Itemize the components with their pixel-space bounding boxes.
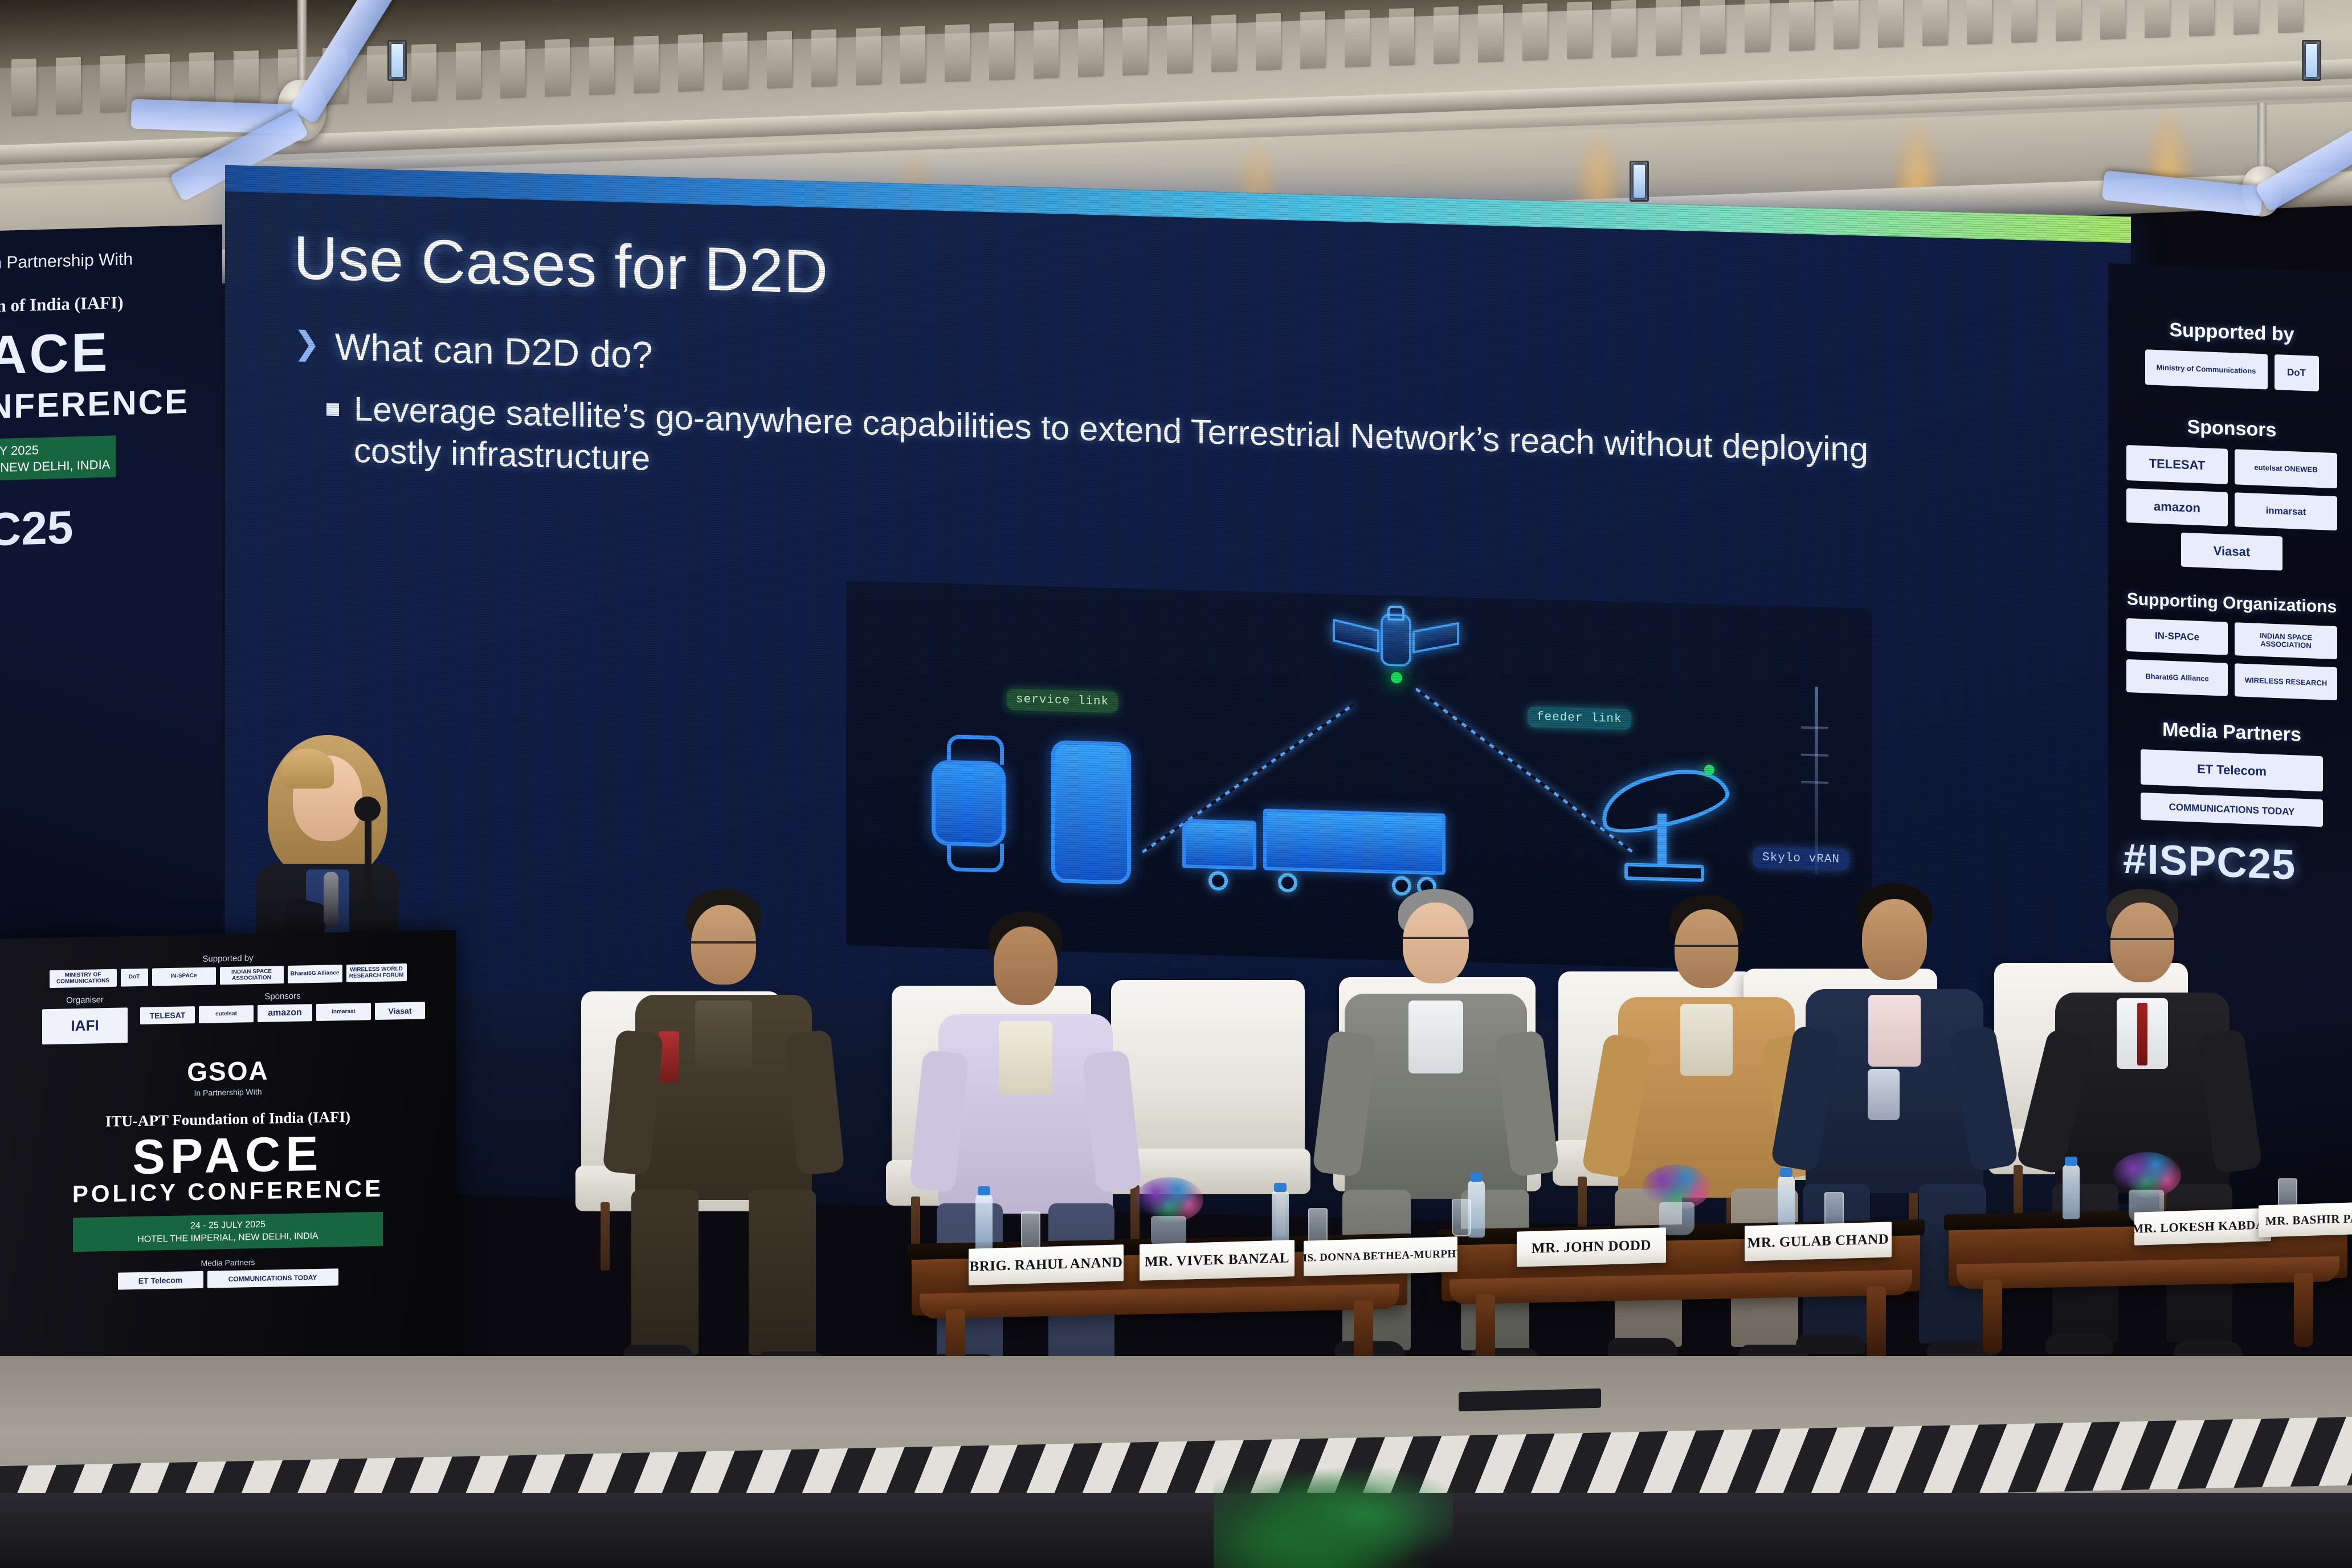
media-partners-heading: Media Partners — [2123, 717, 2341, 748]
sponsor-logos-row-3: Viasat — [2123, 530, 2341, 573]
podium-sponsors-heading: Sponsors — [140, 989, 425, 1004]
feeder-link-label: feeder link — [1528, 707, 1631, 730]
eyeglasses-icon — [690, 941, 757, 949]
panelist-5 — [1778, 883, 2011, 1385]
viasat-logo: Viasat — [2181, 533, 2282, 571]
ceiling-fan-right — [2177, 103, 2347, 251]
smartwatch-icon — [932, 759, 1006, 847]
name-placard: MR. BASHIR PATEL — [2259, 1201, 2352, 1237]
podium-inmarsat-logo: inmarsat — [316, 1003, 371, 1021]
panelist-6 — [2028, 889, 2256, 1385]
name-placard: MR. VIVEK BANZAL — [1140, 1240, 1295, 1281]
media-logos: ET Telecom — [2123, 749, 2341, 793]
stage-front-face — [0, 1493, 2352, 1568]
slide-title: Use Cases for D2D — [293, 222, 2063, 341]
left-banner-venue: , NEW DELHI, INDIA — [0, 456, 110, 476]
eyeglasses-icon — [1673, 945, 1740, 953]
potted-plant — [1214, 1447, 1453, 1568]
name-placard: MR. JOHN DODD — [1517, 1227, 1666, 1267]
eyeglasses-icon — [1401, 937, 1471, 945]
left-banner-title-2: NFERENCE — [0, 381, 212, 426]
podium-bharat6g-logo: Bharat6G Alliance — [288, 965, 342, 983]
supported-by-heading: Supported by — [2123, 317, 2341, 348]
communications-today-logo: COMMUNICATIONS TODAY — [2141, 793, 2323, 827]
wireless-research-logo: WIRELESS RESEARCH — [2235, 663, 2337, 700]
ceiling-vent-light — [1630, 161, 1649, 202]
ceiling-fan-left — [217, 0, 387, 171]
smartphone-icon — [1051, 740, 1131, 885]
water-bottle — [1272, 1191, 1289, 1248]
chevron-right-icon: ❯ — [293, 327, 320, 360]
ceiling-vent-light — [387, 40, 407, 81]
supported-by-logos: Ministry of Communications DoT — [2123, 349, 2341, 393]
service-link-label: service link — [1007, 689, 1118, 713]
podium-iafi-logo: IAFI — [42, 1007, 128, 1044]
truck-icon — [1182, 806, 1450, 893]
name-placard: BRIG. RAHUL ANAND — [969, 1244, 1124, 1285]
sponsor-logos-row-2: amazon inmarsat — [2123, 488, 2341, 531]
name-placard: MS. DONNA BETHEA-MURPHY — [1304, 1236, 1457, 1276]
left-banner-hashtag: C25 — [0, 497, 212, 557]
handheld-microphone-icon — [324, 872, 338, 926]
podium-eutelsat-logo: eutelsat — [199, 1005, 254, 1023]
podium-isa-logo: INDIAN SPACE ASSOCIATION — [220, 966, 284, 985]
ministry-of-communications-logo: Ministry of Communications — [2145, 349, 2268, 389]
left-banner-title-1: ACE — [0, 318, 212, 387]
slide-bullet-level2-text: Leverage satellite’s go-anywhere capabil… — [354, 388, 1926, 514]
podium-telesat-logo: TELESAT — [140, 1006, 195, 1024]
left-banner-foundation: on of India (IAFI) — [0, 289, 212, 316]
drinking-glass — [1452, 1199, 1471, 1236]
podium-policy-conference-title: POLICY CONFERENCE — [39, 1175, 417, 1207]
inmarsat-logo: inmarsat — [2235, 492, 2337, 530]
eutelsat-oneweb-logo: eutelsat ONEWEB — [2235, 449, 2337, 488]
podium-et-telecom-logo: ET Telecom — [118, 1271, 203, 1290]
gsoa-logo: GSOA — [39, 1052, 417, 1091]
eyeglasses-icon — [2109, 938, 2176, 946]
podium-viasat-logo: Viasat — [375, 1002, 425, 1020]
indian-space-association-logo: INDIAN SPACE ASSOCIATION — [2235, 622, 2337, 659]
square-bullet-icon — [326, 403, 339, 416]
podium-communications-today-logo: COMMUNICATIONS TODAY — [207, 1269, 338, 1288]
telesat-logo: TELESAT — [2126, 445, 2228, 484]
podium-amazon-logo: amazon — [258, 1004, 312, 1022]
et-telecom-logo: ET Telecom — [2141, 749, 2323, 791]
supporting-organizations-heading: Supporting Organizations — [2123, 590, 2341, 618]
floor-cable-cover — [1459, 1389, 1601, 1412]
necktie — [2137, 1003, 2147, 1065]
skylo-vran-label: Skylo vRAN — [1753, 847, 1849, 871]
name-placard: MR. GULAB CHAND — [1745, 1222, 1892, 1261]
podium-inspace-logo: IN-SPACe — [152, 967, 216, 986]
podium-ministry-logo: MINISTRY OF COMMUNICATIONS — [50, 969, 117, 988]
podium-organiser-heading: Organiser — [42, 994, 128, 1006]
panelist-3 — [1316, 889, 1555, 1390]
podium-supported-by-logos: MINISTRY OF COMMUNICATIONS DoT IN-SPACe … — [39, 963, 417, 989]
satellite-icon — [1336, 605, 1456, 682]
satellite-dish-icon — [1598, 772, 1746, 901]
dot-logo: DoT — [2275, 354, 2319, 391]
mobile-phone-held-icon — [1868, 1069, 1900, 1120]
supporting-logos-row-2: Bharat6G Alliance WIRELESS RESEARCH — [2123, 659, 2341, 701]
event-hashtag-right: #ISPC25 — [2123, 834, 2341, 891]
drinking-glass — [1021, 1211, 1040, 1250]
supporting-logos-row-1: IN-SPACe INDIAN SPACE ASSOCIATION — [2123, 618, 2341, 660]
podium-microphone-head-icon — [354, 797, 381, 822]
name-placard: MR. LOKESH KABDAL — [2134, 1208, 2271, 1246]
event-banner-left: In Partnership With on of India (IAFI) A… — [0, 224, 222, 989]
panelist-1 — [604, 889, 843, 1402]
water-bottle — [2063, 1165, 2080, 1219]
podium-wwrf-logo: WIRELESS WORLD RESEARCH FORUM — [346, 963, 407, 982]
in-space-logo: IN-SPACe — [2126, 618, 2228, 655]
podium-dot-logo: DoT — [121, 969, 148, 987]
conference-photo: Use Cases for D2D ❯ What can D2D do? Lev… — [0, 0, 2352, 1568]
sponsor-logos-row-1: TELESAT eutelsat ONEWEB — [2123, 445, 2341, 489]
ceiling-vent-light — [2302, 40, 2321, 81]
bharat6g-alliance-logo: Bharat6G Alliance — [2126, 659, 2228, 696]
water-bottle — [1778, 1176, 1795, 1231]
amazon-logo: amazon — [2126, 488, 2228, 526]
water-bottle — [975, 1194, 993, 1251]
panel-chair — [1111, 980, 1305, 1168]
sponsors-heading: Sponsors — [2123, 414, 2341, 444]
podium-microphone-stand — [365, 809, 371, 929]
uniform-ribbon — [659, 1031, 679, 1083]
left-banner-partnership: In Partnership With — [0, 247, 212, 273]
slide-bullet-level1-text: What can D2D do? — [335, 325, 653, 377]
podium-media-logos: ET Telecom COMMUNICATIONS TODAY — [39, 1267, 417, 1292]
podium-sponsor-logos: TELESAT eutelsat amazon inmarsat Viasat — [140, 1002, 425, 1024]
